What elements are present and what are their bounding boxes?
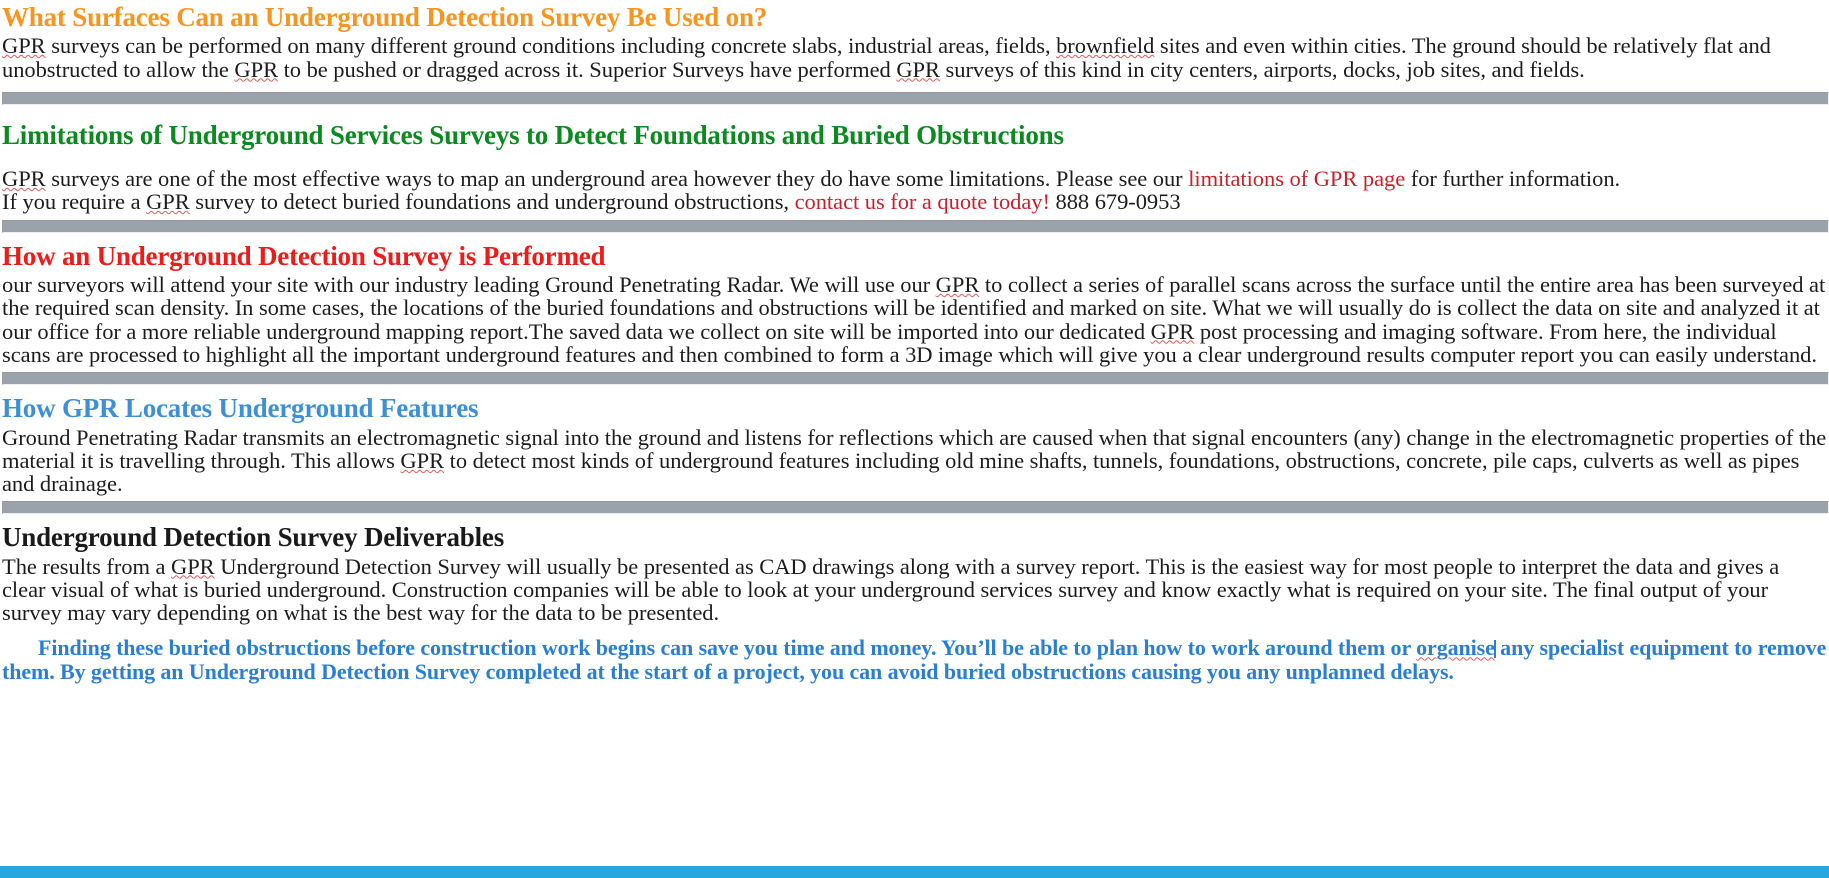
misspelled-gpr: GPR (2, 33, 46, 58)
paragraph-how-gpr-locates: Ground Penetrating Radar transmits an el… (2, 426, 1827, 496)
paragraph-limitations-2: If you require a GPR survey to detect bu… (2, 191, 1827, 214)
misspelled-brownfield: brownfield (1056, 33, 1154, 58)
misspelled-gpr: GPR (234, 57, 278, 82)
heading-limitations: Limitations of Underground Services Surv… (2, 118, 1827, 152)
text-run: The results from a (2, 554, 171, 579)
heading-how-gpr-locates: How GPR Locates Underground Features (2, 391, 1827, 425)
paragraph-how-performed: our surveyors will attend your site with… (2, 273, 1827, 366)
document-page: What Surfaces Can an Underground Detecti… (0, 0, 1829, 878)
paragraph-deliverables: The results from a GPR Underground Detec… (2, 555, 1827, 625)
misspelled-gpr: GPR (896, 57, 940, 82)
section-deliverables: Underground Detection Survey Deliverable… (2, 520, 1827, 683)
paragraph-limitations-1: GPR surveys are one of the most effectiv… (2, 168, 1827, 191)
heading-how-performed: How an Underground Detection Survey is P… (2, 239, 1827, 273)
section-divider (2, 372, 1829, 385)
section-divider (2, 92, 1829, 105)
misspelled-gpr: GPR (2, 166, 46, 191)
section-divider (2, 220, 1829, 233)
section-how-performed: How an Underground Detection Survey is P… (2, 239, 1827, 366)
misspelled-gpr: GPR (400, 448, 444, 473)
section-surfaces: What Surfaces Can an Underground Detecti… (2, 0, 1827, 81)
misspelled-gpr: GPR (936, 272, 980, 297)
paragraph-surfaces: GPR surveys can be performed on many dif… (2, 34, 1827, 81)
text-run: If you require a (2, 189, 146, 214)
section-how-gpr-locates: How GPR Locates Underground Features Gro… (2, 391, 1827, 495)
text-run: surveys can be performed on many differe… (46, 33, 1056, 58)
text-run: surveys are one of the most effective wa… (46, 166, 1189, 191)
misspelled-gpr: GPR (171, 554, 215, 579)
text-run: surveys of this kind in city centers, ai… (940, 57, 1585, 82)
misspelled-gpr: GPR (1151, 319, 1195, 344)
heading-what-surfaces: What Surfaces Can an Underground Detecti… (2, 0, 1827, 34)
text-run: to be pushed or dragged across it. Super… (278, 57, 896, 82)
misspelled-gpr: GPR (146, 189, 190, 214)
phone-number: 888 679-0953 (1050, 189, 1181, 214)
link-limitations-of-gpr-page[interactable]: limitations of GPR page (1188, 166, 1405, 191)
text-run: for further information. (1405, 166, 1620, 191)
misspelled-organise: organise (1416, 635, 1495, 660)
paragraph-closing-callout: Finding these buried obstructions before… (2, 624, 1827, 683)
text-run: survey to detect buried foundations and … (190, 189, 795, 214)
text-run: Underground Detection Survey will usuall… (2, 554, 1779, 626)
heading-deliverables: Underground Detection Survey Deliverable… (2, 520, 1827, 554)
section-divider (2, 501, 1829, 514)
bottom-accent-bar (0, 866, 1829, 878)
link-contact-us-quote[interactable]: contact us for a quote today! (795, 189, 1050, 214)
text-run: Finding these buried obstructions before… (38, 635, 1416, 660)
text-run: our surveyors will attend your site with… (2, 272, 936, 297)
section-limitations: Limitations of Underground Services Surv… (2, 118, 1827, 214)
